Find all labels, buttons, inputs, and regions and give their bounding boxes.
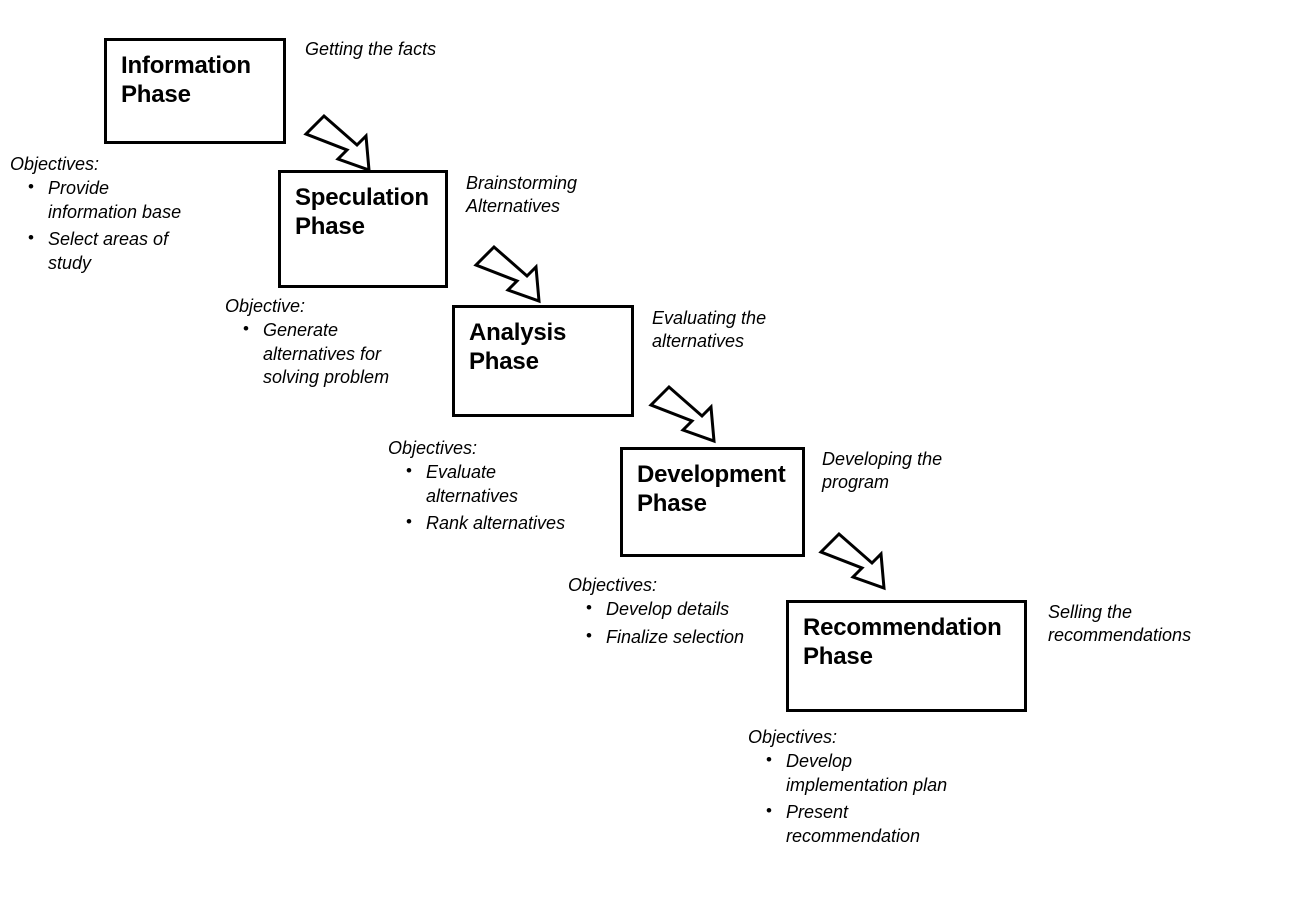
objectives-information: Objectives: Provide information base Sel… [10,153,240,279]
phase-side-label-development: Developing the program [822,448,1042,494]
objectives-speculation: Objective: Generate alternatives for sol… [225,295,465,394]
objective-item: Present recommendation [748,801,1038,848]
phase-side-label-analysis: Evaluating the alternatives [652,307,872,353]
objectives-heading-information: Objectives: [10,153,240,176]
objectives-list-analysis: Evaluate alternatives Rank alternatives [388,461,648,535]
phase-box-speculation: Speculation Phase [278,170,448,288]
objective-item: Rank alternatives [388,512,648,535]
phase-title-development: Development Phase [637,460,788,519]
objectives-list-speculation: Generate alternatives for solving proble… [225,319,465,389]
phase-box-information: Information Phase [104,38,286,144]
objectives-list-recommendation: Develop implementation plan Present reco… [748,750,1038,848]
objective-item: Generate alternatives for solving proble… [225,319,465,389]
connector-speculation-to-analysis [470,243,556,305]
phase-title-information: Information Phase [121,51,269,110]
phase-title-recommendation: Recommendation Phase [803,613,1010,672]
phase-side-label-recommendation: Selling the recommendations [1048,601,1278,647]
objective-item: Evaluate alternatives [388,461,648,508]
objectives-recommendation: Objectives: Develop implementation plan … [748,726,1038,852]
phase-box-development: Development Phase [620,447,805,557]
objectives-heading-development: Objectives: [568,574,848,597]
objectives-heading-recommendation: Objectives: [748,726,1038,749]
phase-box-analysis: Analysis Phase [452,305,634,417]
connector-analysis-to-development [645,383,731,445]
block-arrow-down-right-icon [476,247,539,301]
connector-development-to-recommendation [815,530,901,592]
block-arrow-down-right-icon [821,534,884,588]
objectives-analysis: Objectives: Evaluate alternatives Rank a… [388,437,648,540]
objective-item: Provide information base [10,177,240,224]
connector-information-to-speculation [300,112,386,174]
phase-box-recommendation: Recommendation Phase [786,600,1027,712]
value-engineering-job-plan-diagram: Information Phase Getting the facts Obje… [0,0,1290,900]
objective-item: Select areas of study [10,228,240,275]
block-arrow-down-right-icon [306,116,369,170]
phase-title-analysis: Analysis Phase [469,318,617,377]
phase-title-speculation: Speculation Phase [295,183,431,242]
objectives-heading-speculation: Objective: [225,295,465,318]
objectives-heading-analysis: Objectives: [388,437,648,460]
objectives-list-information: Provide information base Select areas of… [10,177,240,275]
block-arrow-down-right-icon [651,387,714,441]
phase-side-label-information: Getting the facts [305,38,535,61]
phase-side-label-speculation: Brainstorming Alternatives [466,172,686,218]
objective-item: Develop implementation plan [748,750,1038,797]
